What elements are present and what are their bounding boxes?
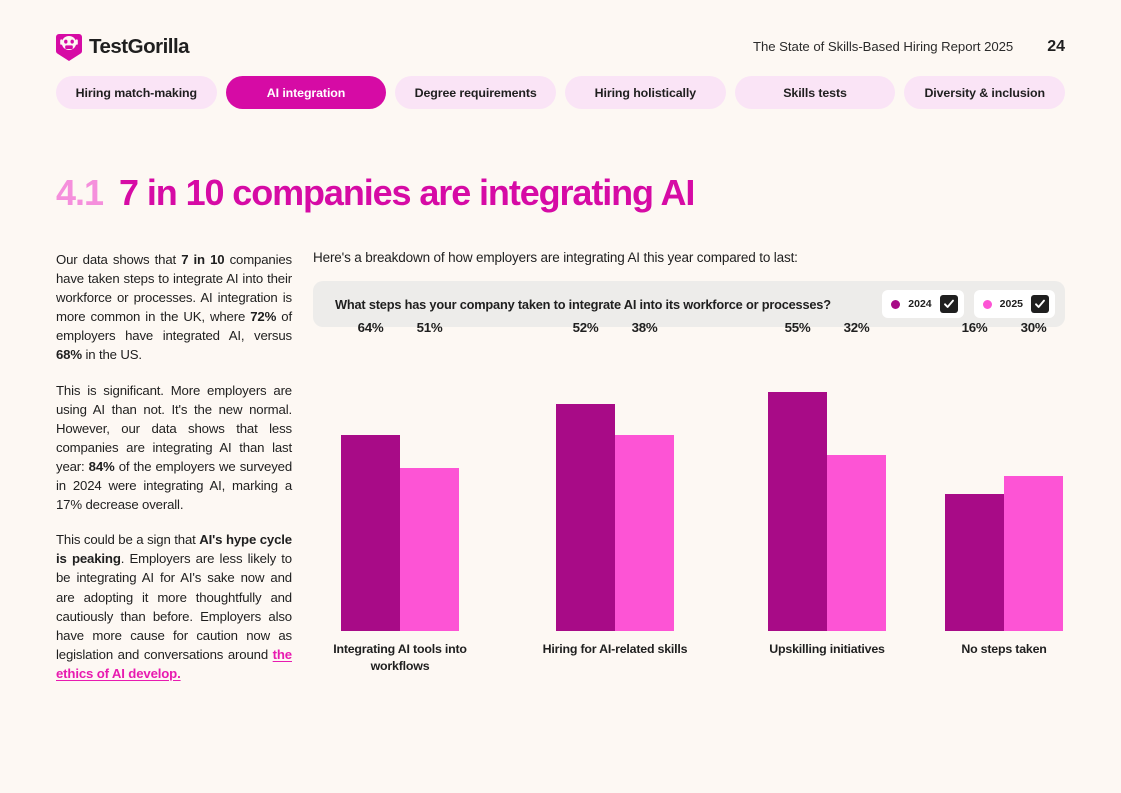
bar-column: 55%	[768, 343, 827, 631]
bar-2025-0[interactable]: 51%	[400, 468, 459, 631]
chart-legend: 20242025	[882, 290, 1055, 318]
paragraph-1: Our data shows that 7 in 10 companies ha…	[56, 250, 292, 365]
bar-group: 52%38%	[556, 343, 674, 631]
section-heading: 4.1 7 in 10 companies are integrating AI	[56, 172, 694, 214]
bar-column: 52%	[556, 343, 615, 631]
chart-panel: Here's a breakdown of how employers are …	[313, 250, 1065, 673]
legend-checkbox-checked-icon[interactable]	[1031, 295, 1049, 313]
body-text: This could be a sign that	[56, 532, 199, 547]
category-label: Hiring for AI-related skills	[533, 641, 697, 658]
emphasis-text: 72%	[250, 309, 276, 324]
bar-column: 38%	[615, 343, 674, 631]
legend-color-dot	[983, 300, 992, 309]
bar-value-label: 30%	[1004, 320, 1063, 343]
tab-degree-requirements[interactable]: Degree requirements	[395, 76, 556, 109]
bar-column: 51%	[400, 343, 459, 631]
bar-2024-1[interactable]: 52%	[556, 404, 615, 631]
bar-value-label: 38%	[615, 320, 674, 343]
bar-value-label: 64%	[341, 320, 400, 343]
legend-series-label: 2024	[908, 298, 931, 310]
legend-chip-2024[interactable]: 2024	[882, 290, 963, 318]
bar-value-label: 52%	[556, 320, 615, 343]
grouped-bar-chart: 64%51%52%38%55%32%16%30% Integrating AI …	[313, 343, 1065, 673]
bar-column: 64%	[341, 343, 400, 631]
bar-column: 16%	[945, 343, 1004, 631]
emphasis-text: 84%	[89, 459, 115, 474]
bar-2024-0[interactable]: 64%	[341, 435, 400, 631]
category-label: No steps taken	[922, 641, 1086, 658]
paragraph-2: This is significant. More employers are …	[56, 381, 292, 515]
article-body: Our data shows that 7 in 10 companies ha…	[56, 250, 292, 683]
report-page: TestGorilla The State of Skills-Based Hi…	[0, 0, 1121, 793]
legend-color-dot	[891, 300, 900, 309]
bar-value-label: 51%	[400, 320, 459, 343]
legend-chip-2025[interactable]: 2025	[974, 290, 1055, 318]
paragraph-3: This could be a sign that AI's hype cycl…	[56, 530, 292, 683]
breakdown-intro: Here's a breakdown of how employers are …	[313, 250, 1065, 265]
bar-2024-2[interactable]: 55%	[768, 392, 827, 631]
brand-logo: TestGorilla	[56, 32, 189, 62]
bar-2024-3[interactable]: 16%	[945, 494, 1004, 631]
gorilla-logo-icon	[56, 32, 82, 62]
emphasis-text: 68%	[56, 347, 82, 362]
legend-checkbox-checked-icon[interactable]	[940, 295, 958, 313]
bar-value-label: 55%	[768, 320, 827, 343]
bar-group: 55%32%	[768, 343, 886, 631]
category-label: Upskilling initiatives	[745, 641, 909, 658]
chart-category-labels: Integrating AI tools into workflowsHirin…	[313, 641, 1065, 683]
category-label: Integrating AI tools into workflows	[318, 641, 482, 675]
bar-2025-1[interactable]: 38%	[615, 435, 674, 631]
section-tabs: Hiring match-makingAI integrationDegree …	[56, 76, 1065, 109]
tab-ai-integration[interactable]: AI integration	[226, 76, 387, 109]
bar-group: 64%51%	[341, 343, 459, 631]
chart-question-text: What steps has your company taken to int…	[335, 297, 870, 312]
tab-hiring-match-making[interactable]: Hiring match-making	[56, 76, 217, 109]
bar-value-label: 32%	[827, 320, 886, 343]
bar-column: 32%	[827, 343, 886, 631]
legend-series-label: 2025	[1000, 298, 1023, 310]
tab-diversity-inclusion[interactable]: Diversity & inclusion	[904, 76, 1065, 109]
bar-value-label: 16%	[945, 320, 1004, 343]
page-header: TestGorilla The State of Skills-Based Hi…	[56, 30, 1065, 64]
bar-column: 30%	[1004, 343, 1063, 631]
report-title: The State of Skills-Based Hiring Report …	[753, 39, 1013, 54]
section-number: 4.1	[56, 172, 103, 214]
chart-plot-area: 64%51%52%38%55%32%16%30%	[313, 343, 1065, 631]
tab-skills-tests[interactable]: Skills tests	[735, 76, 896, 109]
bar-2025-3[interactable]: 30%	[1004, 476, 1063, 631]
body-text: . Employers are less likely to be integr…	[56, 551, 292, 661]
header-meta: The State of Skills-Based Hiring Report …	[753, 38, 1065, 56]
bar-2025-2[interactable]: 32%	[827, 455, 886, 631]
tab-hiring-holistically[interactable]: Hiring holistically	[565, 76, 726, 109]
page-number: 24	[1047, 38, 1065, 56]
section-title: 7 in 10 companies are integrating AI	[119, 172, 694, 214]
brand-name: TestGorilla	[89, 35, 189, 59]
bar-group: 16%30%	[945, 343, 1063, 631]
body-text: Our data shows that	[56, 252, 181, 267]
emphasis-text: 7 in 10	[181, 252, 224, 267]
body-text: in the US.	[82, 347, 142, 362]
